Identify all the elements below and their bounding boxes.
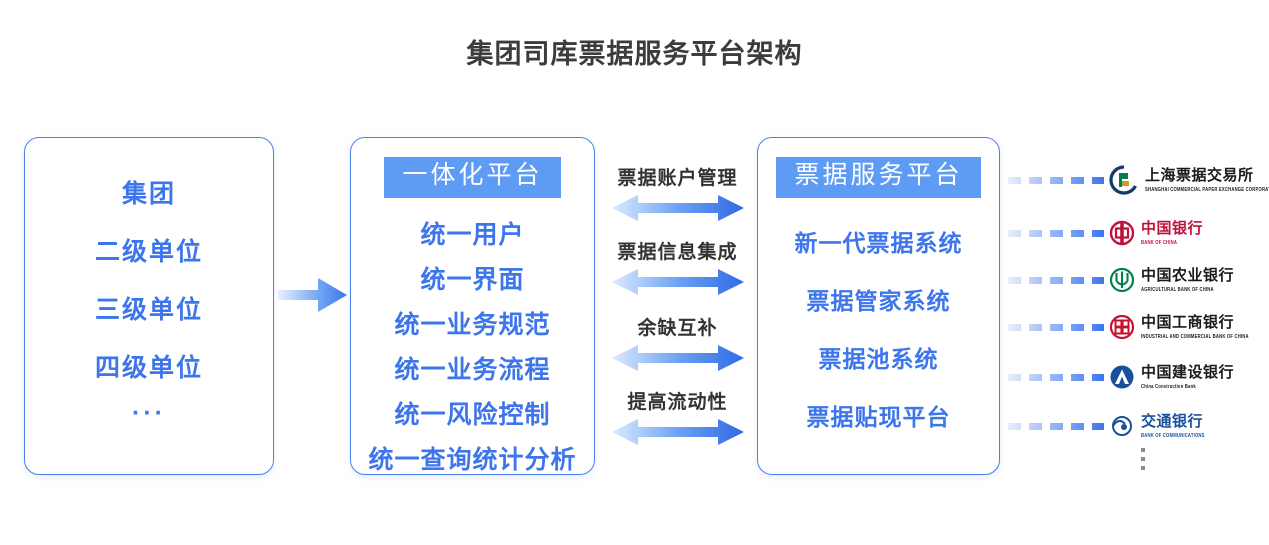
page-title: 集团司库票据服务平台架构 <box>0 32 1269 71</box>
external-institutions-rail: 上海票据交易所 SHANGHAI COMMERCIAL PAPER EXCHAN… <box>1008 160 1269 490</box>
institution-name: 中国农业银行 <box>1141 269 1234 285</box>
org-level-ellipsis: ··· <box>132 406 166 421</box>
institution-name: 中国银行 <box>1141 222 1203 238</box>
integrated-platform-header: 一体化平台 <box>384 157 560 198</box>
institution-subtitle: SHANGHAI COMMERCIAL PAPER EXCHANGE CORPO… <box>1145 186 1269 192</box>
institution-row: 中国建设银行 China Construction Bank <box>1008 357 1269 397</box>
institution-subtitle: BANK OF CHINA <box>1141 239 1203 245</box>
institution-name: 交通银行 <box>1141 415 1205 431</box>
bill-system-item: 票据贴现平台 <box>807 398 951 432</box>
dashed-connector <box>1008 277 1104 284</box>
institution-name: 中国工商银行 <box>1141 316 1249 332</box>
exchange-arrow-group: 票据信息集成 <box>600 237 755 297</box>
institution-subtitle: China Construction Bank <box>1141 383 1234 389</box>
institution-row: 交通银行 BANK OF COMMUNICATIONS <box>1008 406 1269 446</box>
bill-system-item: 新一代票据系统 <box>795 224 963 258</box>
exchange-arrow-group: 票据账户管理 <box>600 163 755 223</box>
institution-row: 上海票据交易所 SHANGHAI COMMERCIAL PAPER EXCHAN… <box>1008 160 1269 200</box>
arrow-right-icon <box>278 273 348 317</box>
double-arrow-icon <box>612 267 744 297</box>
dashed-connector <box>1008 324 1104 331</box>
double-arrow-icon <box>612 343 744 373</box>
double-arrow-icon <box>612 417 744 447</box>
institution-row: 中国工商银行 INDUSTRIAL AND COMMERCIAL BANK OF… <box>1008 307 1269 347</box>
china-construction-bank-logo <box>1109 364 1135 390</box>
dashed-connector <box>1008 230 1104 237</box>
icbc-logo <box>1109 314 1135 340</box>
org-structure-panel: 集团 二级单位 三级单位 四级单位 ··· <box>24 137 274 475</box>
institution-name: 中国建设银行 <box>1141 366 1234 382</box>
platform-feature-item: 统一查询统计分析 <box>368 440 576 476</box>
institution-subtitle: BANK OF COMMUNICATIONS <box>1141 432 1205 438</box>
platform-feature-item: 统一业务流程 <box>394 350 550 386</box>
org-level-item: 二级单位 <box>95 232 203 268</box>
platform-exchange-arrows: 票据账户管理 票据信息集成 余缺互补 提高流动性 <box>600 163 755 453</box>
bill-service-platform-panel: 票据服务平台 新一代票据系统 票据管家系统 票据池系统 票据贴现平台 <box>757 137 1000 475</box>
exchange-arrow-label: 票据账户管理 <box>600 163 755 190</box>
integrated-platform-panel: 一体化平台 统一用户 统一界面 统一业务规范 统一业务流程 统一风险控制 统一查… <box>350 137 595 475</box>
double-arrow-icon <box>612 193 744 223</box>
dashed-connector <box>1008 423 1104 430</box>
institution-row: 中国银行 BANK OF CHINA <box>1008 213 1269 253</box>
platform-feature-item: 统一风险控制 <box>394 395 550 431</box>
exchange-arrow-group: 提高流动性 <box>600 387 755 447</box>
bill-system-item: 票据池系统 <box>819 340 939 374</box>
institution-subtitle: AGRICULTURAL BANK OF CHINA <box>1141 286 1234 292</box>
dashed-connector <box>1008 177 1104 184</box>
org-level-item: 集团 <box>122 174 176 210</box>
shanghai-paper-exchange-logo <box>1109 165 1139 195</box>
exchange-arrow-group: 余缺互补 <box>600 313 755 373</box>
org-level-item: 四级单位 <box>95 348 203 384</box>
exchange-arrow-label: 余缺互补 <box>600 313 755 340</box>
platform-feature-item: 统一界面 <box>420 260 524 296</box>
agricultural-bank-of-china-logo <box>1109 267 1135 293</box>
platform-feature-item: 统一用户 <box>420 215 524 251</box>
org-level-item: 三级单位 <box>95 290 203 326</box>
institution-row: 中国农业银行 AGRICULTURAL BANK OF CHINA <box>1008 260 1269 300</box>
exchange-arrow-label: 票据信息集成 <box>600 237 755 264</box>
institutions-vertical-ellipsis-icon <box>1141 448 1145 470</box>
exchange-arrow-label: 提高流动性 <box>600 387 755 414</box>
platform-feature-item: 统一业务规范 <box>394 305 550 341</box>
bill-system-item: 票据管家系统 <box>807 282 951 316</box>
institution-name: 上海票据交易所 <box>1145 169 1269 185</box>
bank-of-china-logo <box>1109 220 1135 246</box>
bank-of-communications-logo <box>1109 413 1135 439</box>
bill-service-platform-header: 票据服务平台 <box>776 157 980 198</box>
institution-subtitle: INDUSTRIAL AND COMMERCIAL BANK OF CHINA <box>1141 333 1249 339</box>
dashed-connector <box>1008 374 1104 381</box>
